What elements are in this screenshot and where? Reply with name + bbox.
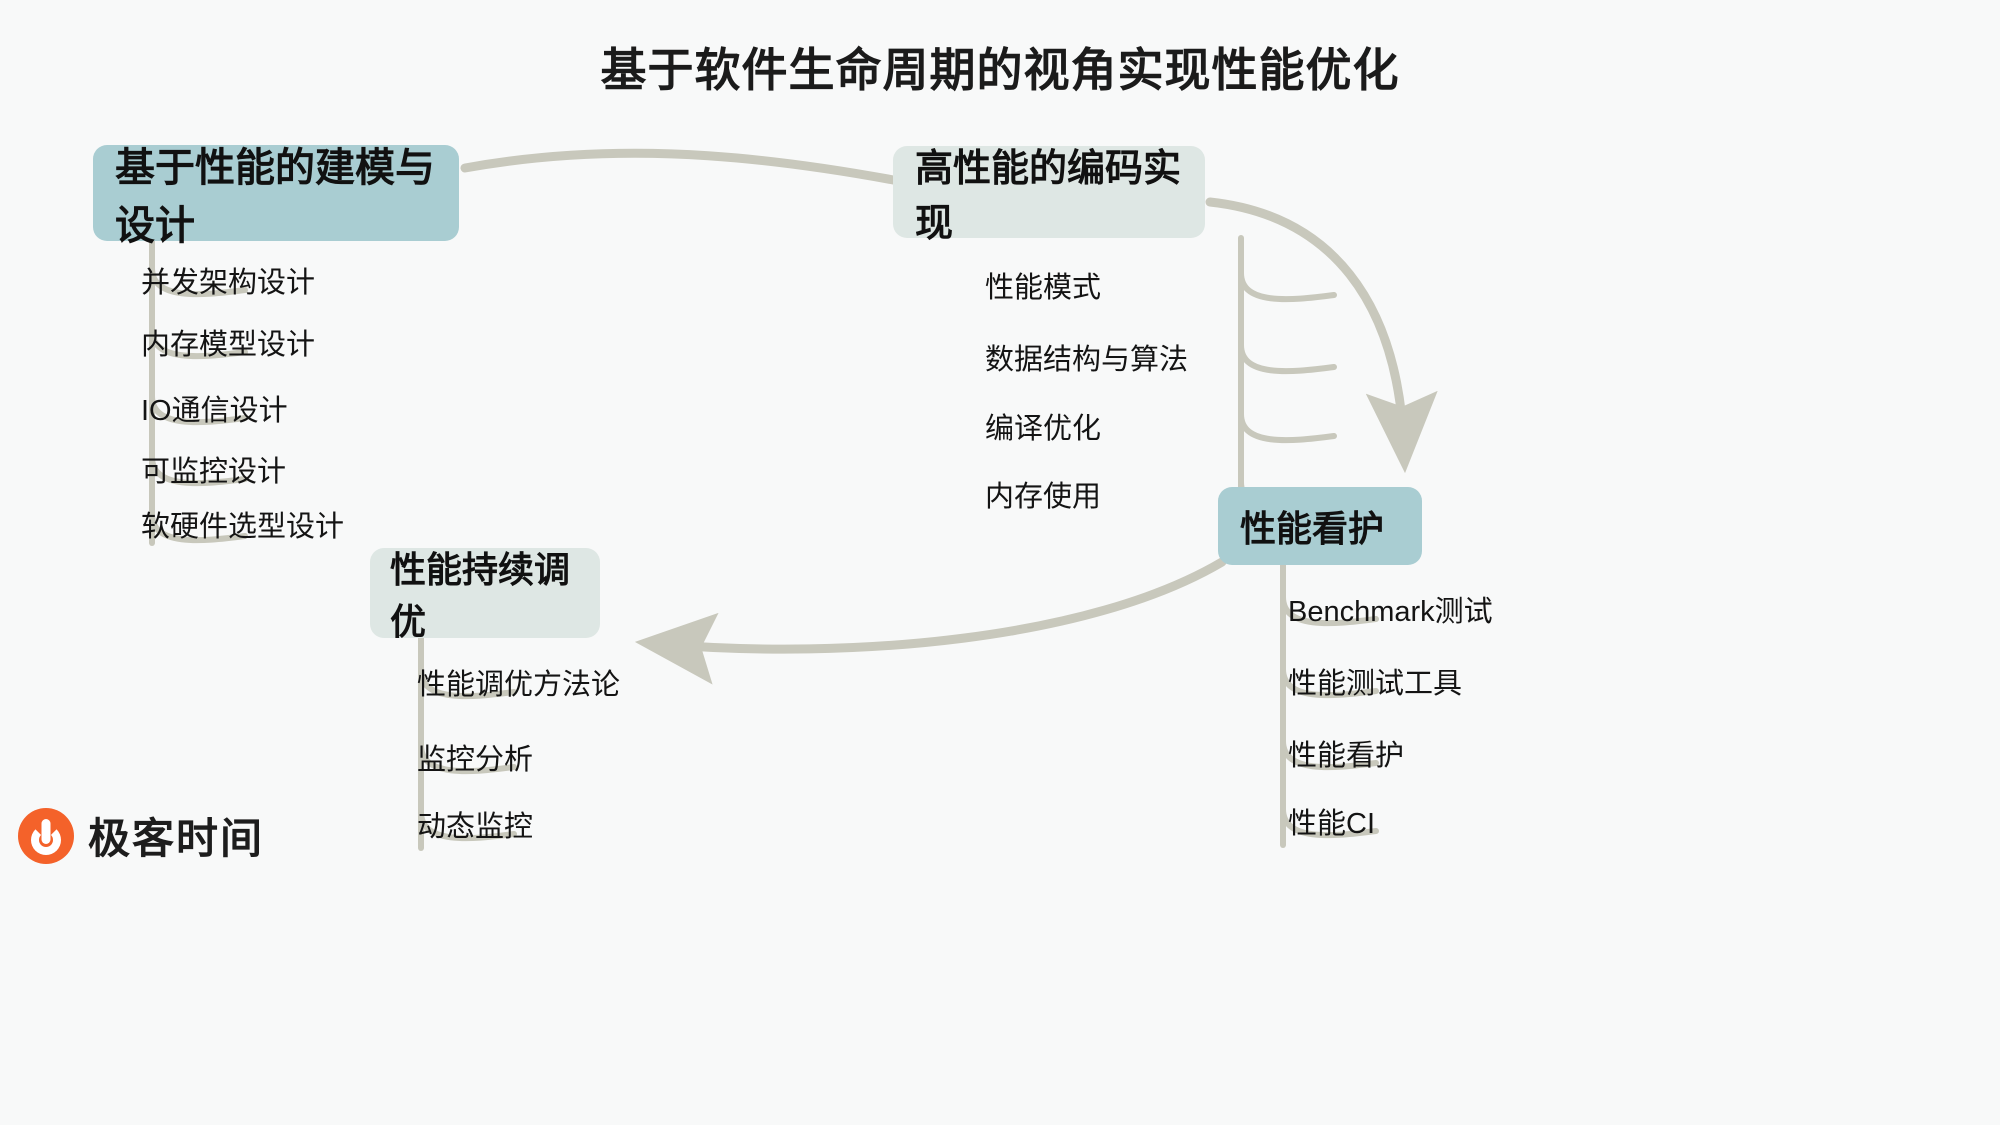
leaf-item[interactable]: 编译优化 (985, 405, 1101, 447)
leaf-item[interactable]: 性能模式 (985, 264, 1101, 306)
leaf-item[interactable]: 动态监控 (417, 803, 533, 845)
leaf-item[interactable]: IO通信设计 (141, 387, 288, 429)
geektime-logo-text: 极客时间 (88, 805, 264, 866)
node-label: 性能持续调优 (390, 541, 580, 645)
node-label: 性能看护 (1240, 500, 1400, 552)
leaf-item[interactable]: 并发架构设计 (141, 259, 315, 301)
page-title: 基于软件生命周期的视角实现性能优化 (0, 34, 2000, 100)
leaf-item[interactable]: 可监控设计 (141, 448, 286, 490)
leaf-item[interactable]: Benchmark测试 (1288, 588, 1493, 630)
node-tuning[interactable]: 性能持续调优 (370, 548, 600, 638)
node-label: 基于性能的建模与设计 (115, 135, 437, 251)
node-guard[interactable]: 性能看护 (1218, 487, 1422, 565)
leaf-item[interactable]: 内存使用 (985, 473, 1101, 515)
geektime-logo: 极客时间 (18, 805, 264, 866)
geektime-logo-icon (18, 808, 74, 864)
leaf-item[interactable]: 性能CI (1288, 800, 1375, 842)
node-design[interactable]: 基于性能的建模与设计 (93, 145, 459, 241)
leaf-item[interactable]: 软硬件选型设计 (141, 503, 344, 545)
diagram-canvas: 基于软件生命周期的视角实现性能优化 (0, 0, 2000, 1125)
leaf-item[interactable]: 性能调优方法论 (417, 661, 620, 703)
node-label: 高性能的编码实现 (915, 137, 1183, 247)
leaf-item[interactable]: 数据结构与算法 (985, 336, 1188, 378)
leaf-item[interactable]: 监控分析 (417, 736, 533, 778)
leaf-item[interactable]: 内存模型设计 (141, 321, 315, 363)
node-coding[interactable]: 高性能的编码实现 (893, 146, 1205, 238)
leaf-item[interactable]: 性能测试工具 (1288, 660, 1462, 702)
leaf-item[interactable]: 性能看护 (1288, 732, 1404, 774)
